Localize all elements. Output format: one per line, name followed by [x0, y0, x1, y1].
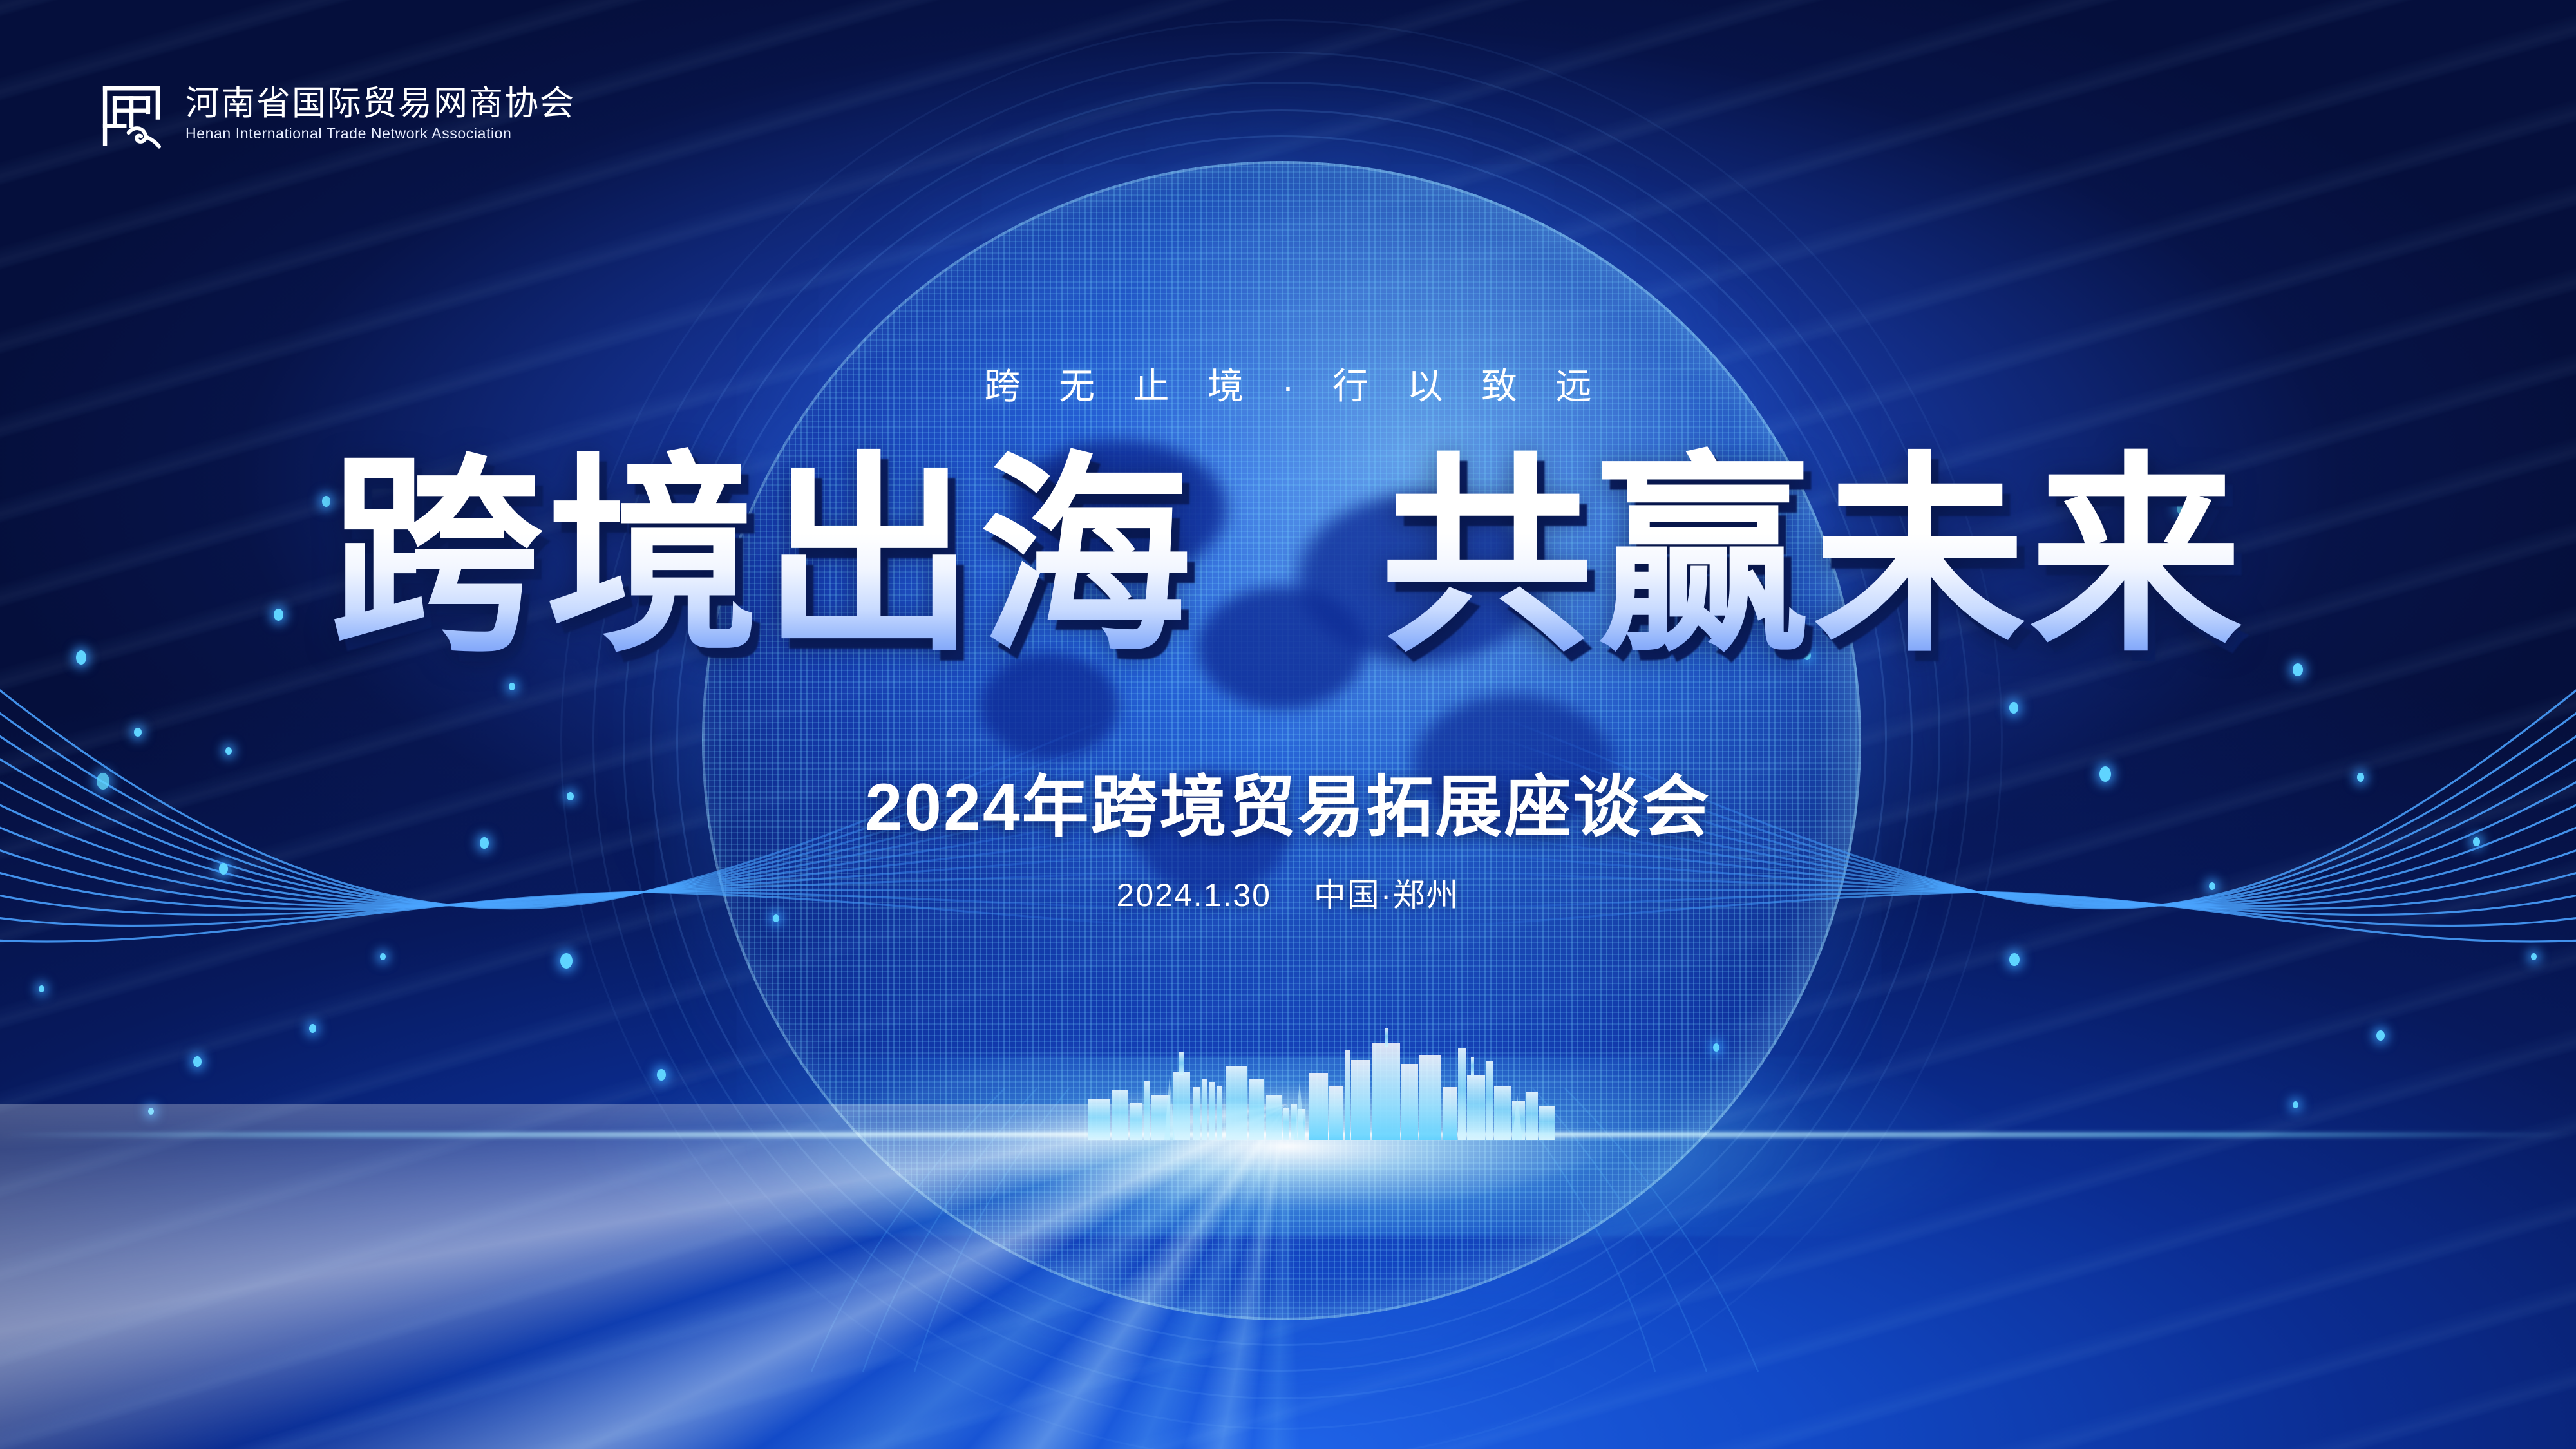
- event-subtitle: 2024年跨境贸易拓展座谈会: [0, 752, 2576, 849]
- association-name-cn: 河南省国际贸易网商协会: [185, 86, 575, 122]
- headline-part-one: 跨境出海 跨境出海: [330, 451, 1195, 663]
- event-date: 2024.1.30: [1117, 877, 1271, 913]
- event-location: 中国·郑州: [1314, 877, 1460, 913]
- seal-script-emblem-icon: [97, 77, 166, 149]
- city-skyline-icon: [1082, 1005, 1558, 1140]
- headline-part-two-face: 共赢未来: [1381, 438, 2246, 676]
- poster-canvas: 河南省国际贸易网商协会 Henan International Trade Ne…: [0, 0, 2576, 1449]
- event-meta: 2024.1.30 中国·郑州: [0, 869, 2576, 916]
- poster-tagline: 跨 无 止 境 · 行 以 致 远: [0, 357, 2576, 410]
- headline-part-one-face: 跨境出海: [330, 438, 1195, 676]
- association-name-en: Henan International Trade Network Associ…: [185, 126, 575, 141]
- headline-part-two: 共赢未来 共赢未来: [1381, 451, 2246, 663]
- poster-headline: 跨境出海 跨境出海 共赢未来 共赢未来: [0, 451, 2576, 663]
- association-logo: 河南省国际贸易网商协会 Henan International Trade Ne…: [97, 77, 575, 149]
